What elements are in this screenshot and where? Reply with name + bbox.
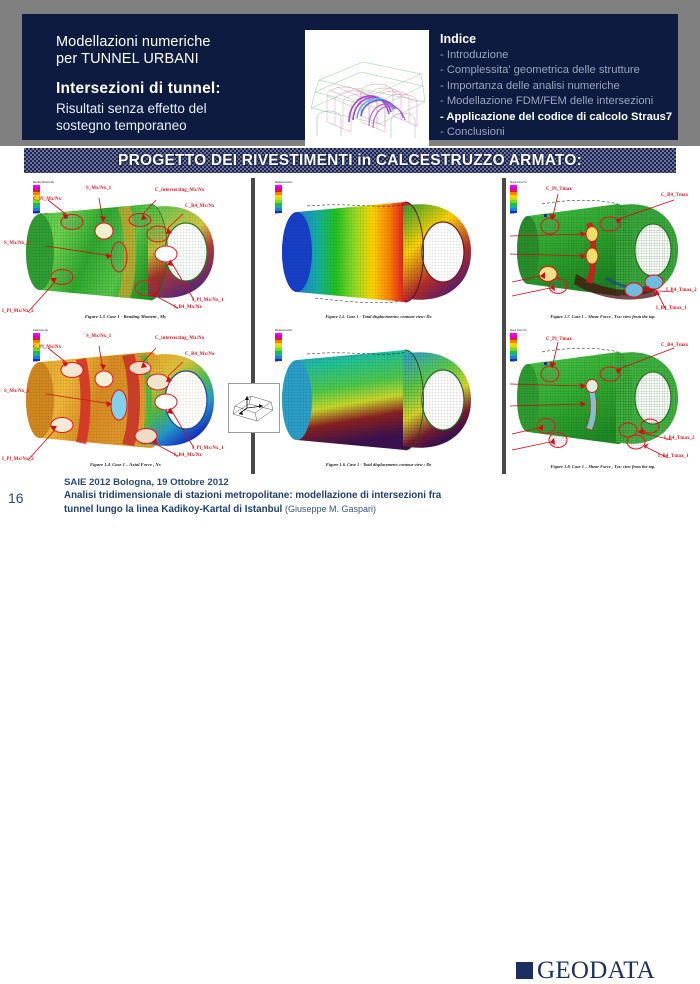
figure-caption-1-6: Figure 1.6. Case 1 - Total displacement:… <box>255 462 502 467</box>
index-list: Indice - Introduzione - Complessita' geo… <box>440 32 700 140</box>
legend-unit: kNm/m (per unit) <box>33 213 49 215</box>
section-banner-label: PROGETTO DEI RIVESTIMENTI in CALCESTRUZZ… <box>118 152 582 170</box>
label-i-pl-mx-nx-1-b: I_Pl_Mx/Nx_1 <box>192 446 224 451</box>
section-banner: PROGETTO DEI RIVESTIMENTI in CALCESTRUZZ… <box>22 146 678 175</box>
label-i-b4-tmax-2-b: I_B4_Tmax_2 <box>664 436 695 441</box>
legend-unit: kN/m <box>510 213 526 215</box>
figure-panel-axial-force[interactable]: Axial Force Nx kN/m C_Pl_Mx/Nx S_Mx/Nx_1… <box>0 326 251 474</box>
geodata-logo: GEODATA <box>516 958 655 983</box>
label-i-pl-mx-nx-1: I_Pl_Mx/Nx_1 <box>192 298 224 303</box>
figure-caption-1-5: Figure 1.5. Case 1 - Total displacements… <box>255 314 502 319</box>
label-s-mx-nx-2-b: S_Mx/Nx_2 <box>4 389 29 394</box>
footer-event: SAIE 2012 Bologna, 19 Ottobre 2012 <box>64 477 229 488</box>
footer-title-line-a: Analisi tridimensionale di stazioni metr… <box>64 490 441 501</box>
label-i-b4-mx-nx: I_B4_Mx/Nx <box>174 305 202 310</box>
label-c-b4-tmax-b: C_B4_Tmax <box>661 343 688 348</box>
index-item-conclusioni[interactable]: - Conclusioni <box>440 125 700 140</box>
label-i-b4-tmax-1-b: I_B4_Tmax_1 <box>658 454 689 459</box>
header-band: Modellazioni numeriche per TUNNEL URBANI… <box>0 0 700 146</box>
legend-color-bars <box>275 185 282 214</box>
tunnel-intersection-thumbnail <box>305 30 429 150</box>
slide-subject-a: Modellazioni numeriche <box>56 34 211 50</box>
legend-color-bars <box>510 333 517 362</box>
index-item-applicazione[interactable]: - Applicazione del codice di calcolo Str… <box>440 110 700 125</box>
legend-unit: mm <box>275 361 291 363</box>
slide-subtitle: Risultati senza effetto del sostegno tem… <box>56 101 306 134</box>
label-c-b4-mx-nx: C_B4_Mx/Nx <box>185 204 215 209</box>
label-c-pl-mx-nx: C_Pl_Mx/Nx <box>33 197 61 202</box>
figure-shear-tyz-graphic <box>506 326 700 474</box>
figure-shear-txz-graphic <box>506 178 700 326</box>
index-item-complessita[interactable]: - Complessita' geometrica delle struttur… <box>440 63 700 78</box>
figure-displacement-dz-graphic <box>255 326 502 474</box>
title-block: Modellazioni numeriche per TUNNEL URBANI… <box>56 34 306 134</box>
legend-title: Shear Force Txz <box>510 182 526 185</box>
slide-number: 16 <box>8 490 24 506</box>
label-c-b4-tmax: C_B4_Tmax <box>661 193 688 198</box>
figure-caption-1-4: Figure 1.4. Case 1 – Axial Force , Nx <box>0 462 251 467</box>
footer-title-line-b: tunnel lungo la linea Kadikoy-Kartal di … <box>64 504 282 515</box>
slide-subtitle-a: Risultati senza effetto del <box>56 101 207 116</box>
index-item-modellazione[interactable]: - Modellazione FDM/FEM delle intersezion… <box>440 94 700 109</box>
figure-caption-1-8: Figure 1.8. Case 1 – Shear Force , Tyz: … <box>506 464 700 469</box>
slide-subject-b: per TUNNEL URBANI <box>56 51 199 67</box>
legend-title: Bending Moment My <box>33 182 49 185</box>
figure-panel-displacement-dx[interactable]: Displacement Dx mm Figure 1.5. Case 1 - … <box>255 178 502 326</box>
legend-unit: mm <box>275 213 291 215</box>
index-item-importanza[interactable]: - Importanza delle analisi numeriche <box>440 79 700 94</box>
label-c-pl-mx-nx-b: C_Pl_Mx/Nx <box>33 345 61 350</box>
legend-shear-tyz: Shear Force Tyz kN/m <box>510 330 526 363</box>
figure-panel-bending-moment[interactable]: Bending Moment My kNm/m (per unit) C_Pl_… <box>0 178 251 326</box>
footer-author: (Giuseppe M. Gaspari) <box>285 504 376 514</box>
figure-caption-1-7: Figure 1.7. Case 1 – Shear Force , Txz: … <box>506 314 700 319</box>
index-title: Indice <box>440 32 700 46</box>
label-s-mx-nx-1-b: S_Mx/Nx_1 <box>86 334 111 339</box>
legend-title: Displacement Dx <box>275 182 291 185</box>
axis-orientation-thumbnail <box>228 383 280 433</box>
legend-displacement-dz: Displacement Dz mm <box>275 330 291 363</box>
label-c-intersecting: C_intersecting_Mx/Nx <box>155 188 204 193</box>
label-c-pl-tmax-b: C_Pl_Tmax <box>546 337 572 342</box>
geodata-logo-text: GEODATA <box>537 958 655 983</box>
figure-panel-displacement-dz[interactable]: Displacement Dz mm Figure 1.6. Case 1 - … <box>255 326 502 474</box>
legend-color-bars <box>275 333 282 362</box>
legend-title: Displacement Dz <box>275 330 291 333</box>
slide-subject-line-1: Modellazioni numeriche per TUNNEL URBANI <box>56 34 306 68</box>
label-c-b4-mx-nx-b: C_B4_Mx/Nx <box>185 352 215 357</box>
header-panel: Modellazioni numeriche per TUNNEL URBANI… <box>22 14 678 140</box>
label-c-pl-tmax: C_Pl_Tmax <box>546 187 572 192</box>
legend-unit: kN/m <box>510 361 526 363</box>
legend-title: Axial Force Nx <box>33 330 49 333</box>
legend-shear-txz: Shear Force Txz kN/m <box>510 182 526 215</box>
legend-unit: kN/m <box>33 361 49 363</box>
slide-footer: 16 SAIE 2012 Bologna, 19 Ottobre 2012 An… <box>0 474 700 525</box>
label-i-b4-tmax-1: I_B4_Tmax_1 <box>656 306 687 311</box>
footer-title: Analisi tridimensionale di stazioni metr… <box>64 490 494 516</box>
legend-color-bars <box>510 185 517 214</box>
slide-subtitle-b: sostegno temporaneo <box>56 118 187 133</box>
figure-caption-1-3: Figure 1.3. Case 1 - Bending Moment , My <box>0 314 251 319</box>
index-item-introduzione[interactable]: - Introduzione <box>440 48 700 63</box>
page-title: Intersezioni di tunnel: <box>56 79 306 98</box>
label-s-mx-nx-2: S_Mx/Nx_2 <box>4 241 29 246</box>
geodata-logo-square-icon <box>516 962 533 979</box>
figure-grid: Bending Moment My kNm/m (per unit) C_Pl_… <box>0 178 700 474</box>
figure-displacement-dx-graphic <box>255 178 502 326</box>
figure-panel-shear-txz[interactable]: Shear Force Txz kN/m C_Pl_Tmax C_B4_Tmax… <box>506 178 700 326</box>
label-c-intersecting-b: C_intersecting_Mx/Nx <box>155 336 204 341</box>
legend-title: Shear Force Tyz <box>510 330 526 333</box>
figure-panel-shear-tyz[interactable]: Shear Force Tyz kN/m C_Pl_Tmax C_B4_Tmax… <box>506 326 700 474</box>
legend-displacement-dx: Displacement Dx mm <box>275 182 291 215</box>
label-i-b4-mx-nx-b: I_B4_Mx/Nx <box>174 453 202 458</box>
label-s-mx-nx-1: S_Mx/Nx_1 <box>86 186 111 191</box>
label-i-b4-tmax-2: I_B4_Tmax_2 <box>666 288 697 293</box>
